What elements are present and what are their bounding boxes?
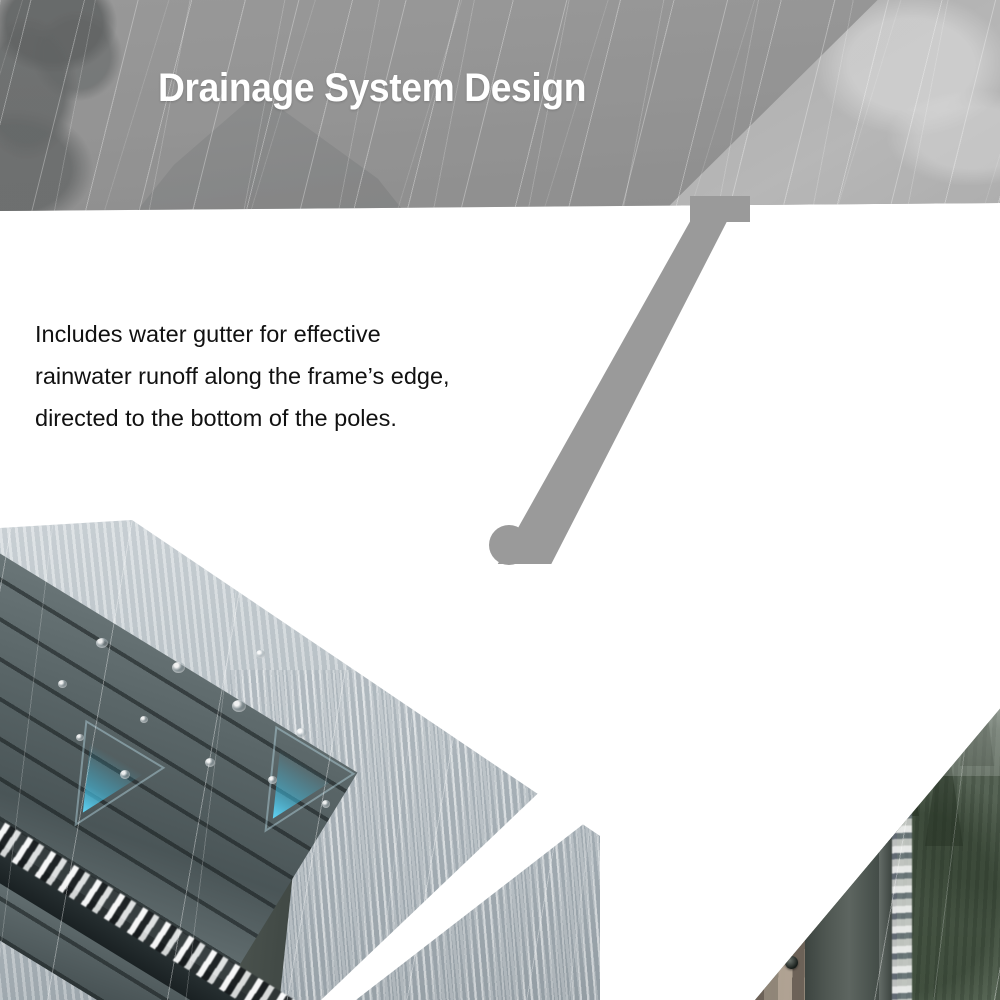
roof-top-lip [475, 320, 1000, 434]
gutter-photo-left [0, 520, 600, 1000]
roof-corner-cap [925, 396, 1000, 546]
diagonal-accent-bar-cap [489, 525, 529, 565]
description-line-3: directed to the bottom of the poles. [35, 397, 505, 439]
water-droplet [140, 716, 148, 723]
flow-arrow-right-2 [633, 462, 743, 538]
water-stream [892, 586, 912, 1000]
water-droplet [232, 700, 246, 712]
post-bolt-1 [552, 568, 565, 581]
water-splash [883, 568, 923, 602]
water-droplet [96, 638, 108, 648]
water-droplet [172, 662, 185, 673]
description-line-2: rainwater runoff along the frame’s edge, [35, 355, 505, 397]
right-photo-tree-1 [875, 666, 919, 816]
water-droplet [322, 800, 330, 808]
post-bolt-3 [787, 878, 800, 891]
page-title: Drainage System Design [158, 66, 586, 111]
post-bolt-2 [705, 594, 718, 607]
post-bolt-4 [785, 956, 798, 969]
water-droplet [256, 650, 265, 658]
description-text: Includes water gutter for effective rain… [35, 313, 505, 439]
water-droplet [58, 680, 67, 688]
roof-ridge-line-1 [468, 393, 1000, 454]
description-line-1: Includes water gutter for effective [35, 313, 505, 355]
diagonal-accent-bar [485, 196, 740, 564]
right-photo-mist [705, 476, 1000, 776]
water-droplet [268, 776, 277, 784]
water-droplet [205, 758, 215, 767]
infographic-page: Drainage System Design Includes water gu… [0, 0, 1000, 1000]
water-droplet [296, 728, 307, 738]
gazebo-post-edge [879, 556, 893, 1000]
water-droplet [120, 770, 130, 779]
water-droplet [76, 734, 84, 741]
